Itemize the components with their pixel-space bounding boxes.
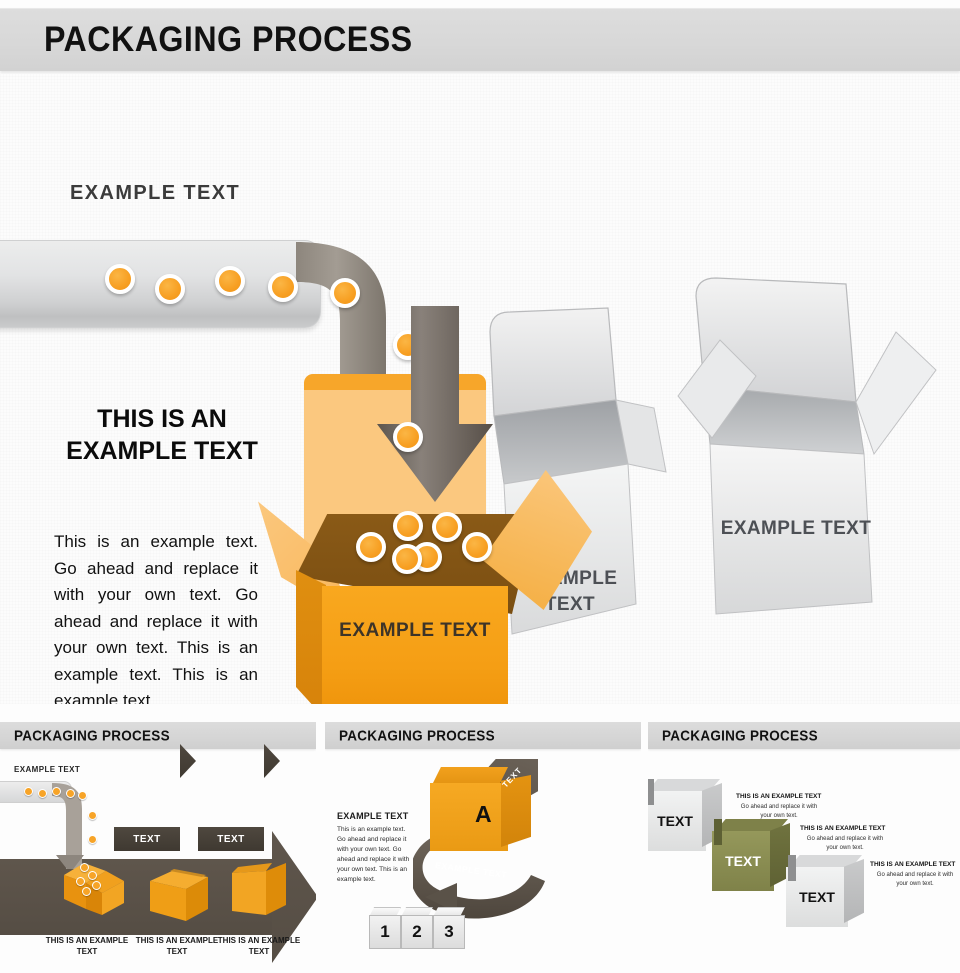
thumbnail-2-title: PACKAGING PROCESS [339, 727, 495, 744]
thumbnail-3-box-label: TEXT [786, 867, 848, 927]
thumbnail-1-header: PACKAGING PROCESS [0, 722, 316, 749]
thumbnail-1-closed-box [228, 861, 290, 923]
thumbnail-2-cube: 3 [433, 915, 465, 949]
belt-dot [393, 422, 423, 452]
main-diagram-canvas: EXAMPLE TEXT [0, 74, 960, 704]
gray-box-2-label: EXAMPLE TEXT [720, 516, 872, 542]
belt-dot [105, 264, 135, 294]
thumbnail-3-text-body: Go ahead and replace it with your own te… [804, 835, 886, 853]
thumbnail-1-dot [24, 787, 33, 796]
thumbnail-2-header: PACKAGING PROCESS [325, 722, 641, 749]
belt-dot [155, 274, 185, 304]
left-body-text: This is an example text. Go ahead and re… [54, 529, 258, 704]
top-heading-label: EXAMPLE TEXT [70, 182, 240, 205]
thumbnail-2-cube-number: 2 [402, 916, 432, 948]
down-arrow-icon [375, 306, 495, 506]
thumbnail-1-heading: EXAMPLE TEXT [14, 765, 80, 774]
belt-dot [215, 266, 245, 296]
thumbnail-3-text-heading: THIS IS AN EXAMPLE TEXT [800, 825, 885, 832]
thumbnail-2-heading: EXAMPLE TEXT [337, 811, 408, 821]
belt-dot [268, 272, 298, 302]
thumbnail-3-title: PACKAGING PROCESS [662, 727, 818, 744]
thumbnail-1-dot [66, 789, 75, 798]
thumbnail-1-dot [38, 789, 47, 798]
thumbnail-3-text-body: Go ahead and replace it with your own te… [874, 871, 956, 889]
gray-box-2: EXAMPLE TEXT [660, 274, 960, 694]
thumbnail-3[interactable]: PACKAGING PROCESS TEXT THIS IS AN EXAMPL… [648, 722, 960, 973]
thumbnail-2-body-text: This is an example text. Go ahead and re… [337, 825, 415, 885]
thumbnail-1-step-arrow: TEXT [198, 827, 264, 851]
thumbnail-1-title: PACKAGING PROCESS [14, 727, 170, 744]
thumbnail-1-step-arrow-head [180, 744, 196, 778]
thumbnail-2[interactable]: PACKAGING PROCESS EXAMPLE TEXT This is a… [325, 722, 641, 973]
thumbnail-3-body: TEXT THIS IS AN EXAMPLE TEXT Go ahead an… [648, 749, 960, 973]
thumbnail-2-box-front [430, 783, 508, 851]
thumbnail-3-box-label: TEXT [648, 791, 706, 851]
thumbnail-1-dot [88, 871, 97, 880]
thumbnail-2-box-letter: A [475, 801, 492, 828]
thumbnail-2-cube: 1 [369, 915, 401, 949]
thumbnail-strip: PACKAGING PROCESS EXAMPLE TEXT [0, 722, 960, 973]
thumbnail-1-caption: THIS IS AN EXAMPLE TEXT [134, 935, 220, 957]
box-dot [356, 532, 386, 562]
thumbnail-3-box-label: TEXT [712, 831, 774, 891]
thumbnail-1[interactable]: PACKAGING PROCESS EXAMPLE TEXT [0, 722, 316, 973]
left-title: THIS IS AN EXAMPLE TEXT [56, 404, 268, 467]
thumbnail-3-text-heading: THIS IS AN EXAMPLE TEXT [870, 861, 955, 868]
thumbnail-1-step-arrow: TEXT [114, 827, 180, 851]
belt-dot [330, 278, 360, 308]
thumbnail-2-cube-number: 1 [370, 916, 400, 948]
thumbnail-1-closed-box [148, 867, 210, 925]
thumbnail-1-caption: THIS IS AN EXAMPLE TEXT [216, 935, 302, 957]
thumbnail-1-dot [78, 791, 87, 800]
thumbnail-1-dot [88, 835, 97, 844]
thumbnail-3-box: TEXT [786, 855, 866, 931]
thumbnail-1-step-arrow-label: TEXT [198, 827, 264, 851]
thumbnail-2-cube-number: 3 [434, 916, 464, 948]
thumbnail-3-box: TEXT [712, 819, 792, 895]
thumbnail-1-step-arrow-label: TEXT [114, 827, 180, 851]
thumbnail-3-text-heading: THIS IS AN EXAMPLE TEXT [736, 793, 821, 800]
box-dot [462, 532, 492, 562]
thumbnail-1-step-arrow-head [264, 744, 280, 778]
slide-page: PACKAGING PROCESS EXAMPLE TEXT [0, 0, 960, 973]
orange-box-front-panel [322, 586, 508, 704]
thumbnail-2-body: EXAMPLE TEXT This is an example text. Go… [325, 749, 641, 973]
page-title: PACKAGING PROCESS [44, 20, 413, 60]
thumbnail-1-dot [88, 811, 97, 820]
orange-box-label: EXAMPLE TEXT [322, 618, 508, 644]
box-dot [432, 512, 462, 542]
thumbnail-1-dot [92, 881, 101, 890]
box-dot [393, 511, 423, 541]
thumbnail-1-caption: THIS IS AN EXAMPLE TEXT [44, 935, 130, 957]
thumbnail-1-body: EXAMPLE TEXT [0, 749, 316, 973]
thumbnail-2-cube: 2 [401, 915, 433, 949]
main-header-bar: PACKAGING PROCESS [0, 8, 960, 71]
thumbnail-1-dot [80, 863, 89, 872]
thumbnail-1-dot [82, 887, 91, 896]
box-dot [392, 544, 422, 574]
thumbnail-1-dot [52, 787, 61, 796]
thumbnail-1-dot [76, 877, 85, 886]
thumbnail-3-header: PACKAGING PROCESS [648, 722, 960, 749]
